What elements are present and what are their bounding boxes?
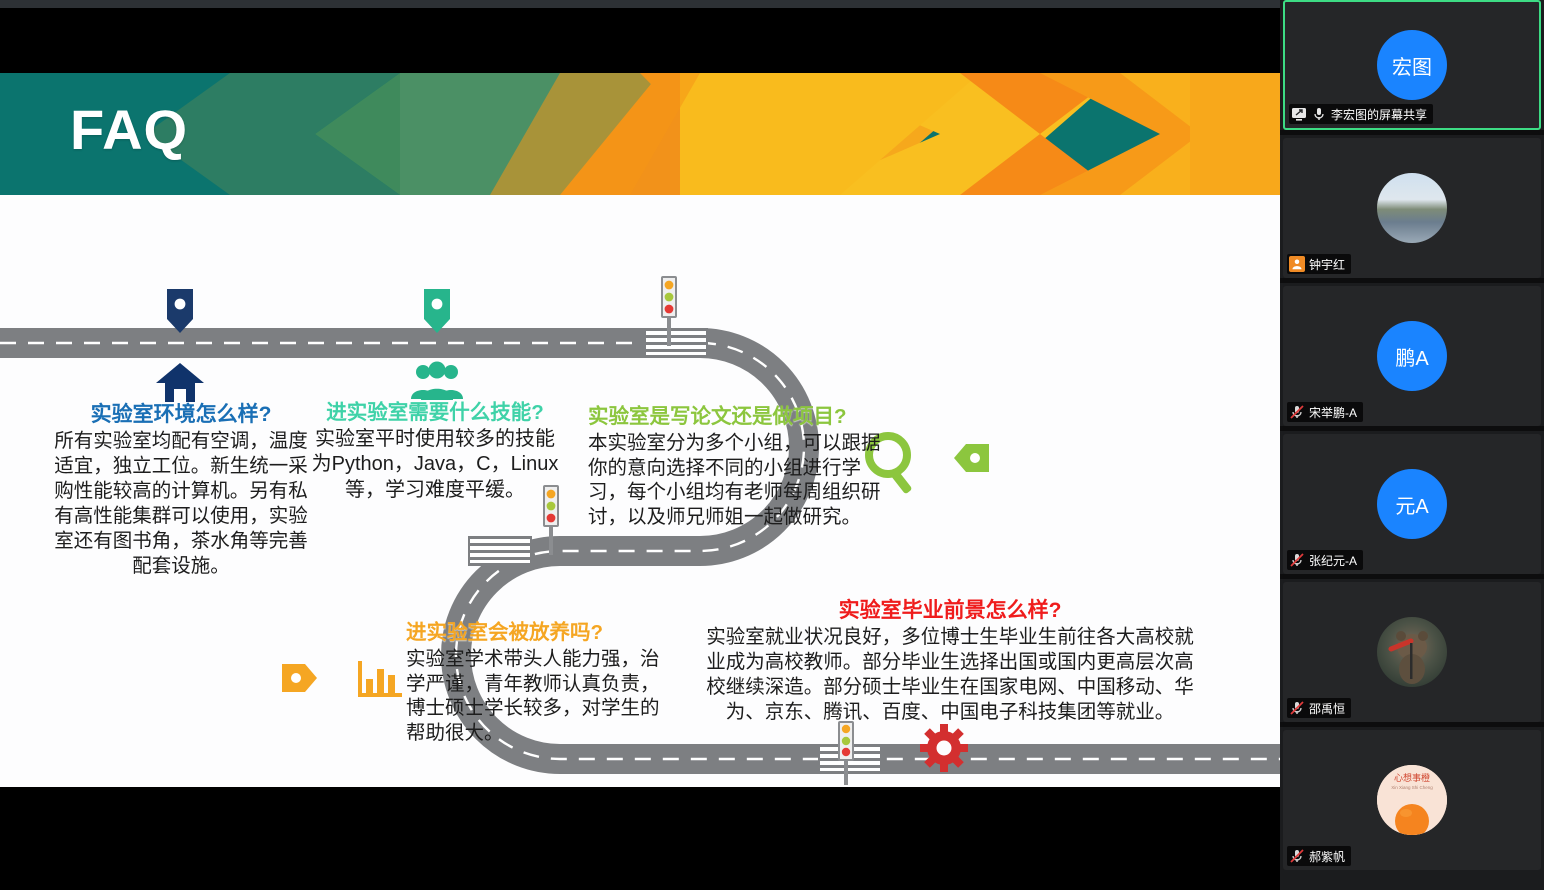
participant-tile[interactable]: 元A 张纪元-A — [1283, 434, 1541, 574]
mic-muted-icon — [1289, 404, 1305, 420]
pin-marker-navy-icon — [164, 289, 196, 335]
participant-namebar: 张纪元-A — [1287, 550, 1363, 570]
tile-divider — [1280, 426, 1544, 431]
participant-name: 邵禹恒 — [1309, 700, 1345, 717]
mic-muted-icon — [1289, 552, 1305, 568]
participant-namebar: 李宏图的屏幕共享 — [1289, 104, 1433, 124]
avatar — [1377, 173, 1447, 243]
home-icon — [155, 361, 205, 403]
tile-divider — [1280, 574, 1544, 579]
participant-name: 李宏图的屏幕共享 — [1331, 106, 1427, 123]
participant-namebar: 钟宇红 — [1287, 254, 1351, 274]
avatar: 鹏A — [1377, 321, 1447, 391]
tag-marker-green-icon — [953, 443, 991, 473]
participant-sidebar[interactable]: 宏图 李宏图的屏幕共享 — [1280, 0, 1544, 890]
participant-name: 宋举鹏-A — [1309, 404, 1357, 421]
tile-divider — [1280, 130, 1544, 135]
crosswalk-middle — [468, 536, 532, 566]
traffic-light-icon-top — [657, 276, 683, 346]
faq-block-papers-or-projects: 实验室是写论文还是做项目? 本实验室分为多个小组，可以跟据你的意向选择不同的小组… — [588, 405, 888, 530]
participant-namebar: 宋举鹏-A — [1287, 402, 1363, 422]
participant-tile[interactable]: 鹏A 宋举鹏-A — [1283, 286, 1541, 426]
faq-question-title: 实验室毕业前景怎么样? — [700, 599, 1200, 623]
faq-block-supervision: 进实验室会被放养吗? 实验室学术带头人能力强，治学严谨，青年教师认真负责，博士硕… — [400, 621, 662, 746]
tile-divider — [1280, 278, 1544, 283]
faq-question-title: 实验室环境怎么样? — [52, 403, 310, 427]
profile-avatar-icon — [1289, 256, 1305, 272]
pin-marker-teal-icon — [421, 289, 453, 335]
faq-question-title: 实验室是写论文还是做项目? — [588, 405, 888, 429]
mic-muted-icon — [1289, 700, 1305, 716]
presentation-slide: FAQ — [0, 73, 1280, 787]
top-toolbar-strip — [0, 0, 1280, 8]
faq-answer-body: 本实验室分为多个小组，可以跟据你的意向选择不同的小组进行学习，每个小组均有老师每… — [588, 431, 888, 531]
faq-question-title: 进实验室需要什么技能? — [310, 401, 560, 425]
faq-answer-body: 实验室学术带头人能力强，治学严谨，青年教师认真负责，博士硕士学长较多，对学生的帮… — [400, 647, 662, 747]
faq-answer-body: 所有实验室均配有空调，温度适宜，独立工位。新生统一采购性能较高的计算机。另有私有… — [52, 429, 310, 579]
mic-icon — [1311, 106, 1327, 122]
faq-block-lab-environment: 实验室环境怎么样? 所有实验室均配有空调，温度适宜，独立工位。新生统一采购性能较… — [52, 403, 310, 579]
bar-chart-icon — [358, 659, 402, 699]
svg-text:Xin Xiang Shi Cheng: Xin Xiang Shi Cheng — [1391, 785, 1433, 790]
shared-screen-area: FAQ — [0, 0, 1280, 890]
avatar — [1377, 617, 1447, 687]
screen-share-icon — [1291, 106, 1307, 122]
banner-polygons — [0, 73, 1280, 195]
avatar: 元A — [1377, 469, 1447, 539]
faq-block-career-prospects: 实验室毕业前景怎么样? 实验室就业状况良好，多位博士生毕业生前往各大高校就业成为… — [700, 599, 1200, 725]
tile-divider — [1280, 722, 1544, 727]
faq-question-title: 进实验室会被放养吗? — [400, 621, 662, 645]
svg-text:心想事橙: 心想事橙 — [1394, 772, 1430, 784]
participant-name: 钟宇红 — [1309, 256, 1345, 273]
page-title: FAQ — [70, 97, 188, 162]
participant-name: 张纪元-A — [1309, 552, 1357, 569]
participant-tile[interactable]: 邵禹恒 — [1283, 582, 1541, 722]
faq-answer-body: 实验室就业状况良好，多位博士生毕业生前往各大高校就业成为高校教师。部分毕业生选择… — [700, 625, 1200, 725]
mic-muted-icon — [1289, 848, 1305, 864]
gear-icon — [920, 724, 968, 772]
avatar: 宏图 — [1377, 30, 1447, 100]
participant-tile[interactable]: 宏图 李宏图的屏幕共享 — [1283, 0, 1541, 130]
participant-namebar: 邵禹恒 — [1287, 698, 1351, 718]
avatar: 心想事橙 Xin Xiang Shi Cheng — [1377, 765, 1447, 835]
participant-tile[interactable]: 钟宇红 — [1283, 138, 1541, 278]
faq-answer-body: 实验室平时使用较多的技能为Python，Java，C，Linux等，学习难度平缓… — [310, 427, 560, 504]
faq-block-required-skills: 进实验室需要什么技能? 实验室平时使用较多的技能为Python，Java，C，L… — [310, 401, 560, 503]
people-icon — [411, 361, 463, 401]
participant-name: 郝紫帆 — [1309, 848, 1345, 865]
zoom-screen-share-window: FAQ — [0, 0, 1544, 890]
participant-tile[interactable]: 心想事橙 Xin Xiang Shi Cheng 郝紫帆 — [1283, 730, 1541, 870]
slide-banner: FAQ — [0, 73, 1280, 195]
tag-marker-orange-icon — [280, 663, 318, 693]
participant-namebar: 郝紫帆 — [1287, 846, 1351, 866]
traffic-light-icon-bottom — [834, 721, 860, 785]
